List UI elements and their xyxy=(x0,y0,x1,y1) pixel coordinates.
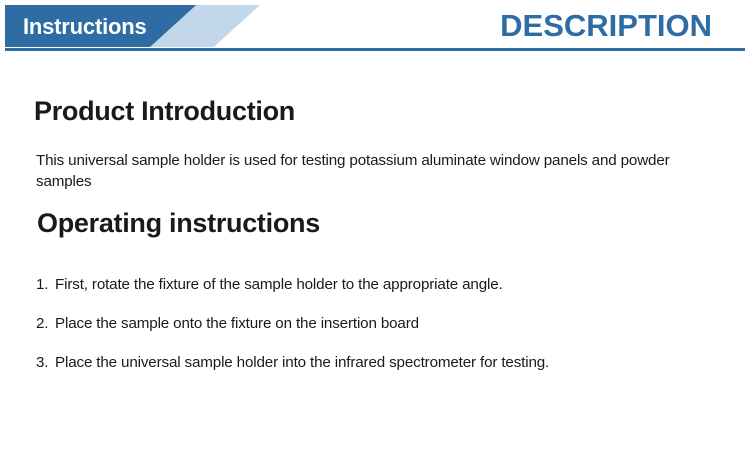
operating-steps-list: 1. First, rotate the fixture of the samp… xyxy=(36,275,726,391)
page-header: Instructions DESCRIPTION xyxy=(0,0,750,53)
step-text: Place the universal sample holder into t… xyxy=(55,353,726,373)
heading-operating-instructions: Operating instructions xyxy=(37,209,320,239)
step-number: 3. xyxy=(36,353,55,373)
heading-product-introduction: Product Introduction xyxy=(34,97,295,127)
step-text: Place the sample onto the fixture on the… xyxy=(55,314,726,334)
list-item: 3. Place the universal sample holder int… xyxy=(36,353,726,373)
step-text: First, rotate the fixture of the sample … xyxy=(55,275,726,295)
step-number: 2. xyxy=(36,314,55,334)
page-title: DESCRIPTION xyxy=(0,10,712,41)
list-item: 1. First, rotate the fixture of the samp… xyxy=(36,275,726,295)
step-number: 1. xyxy=(36,275,55,295)
list-item: 2. Place the sample onto the fixture on … xyxy=(36,314,726,334)
product-introduction-paragraph: This universal sample holder is used for… xyxy=(36,151,696,192)
header-divider xyxy=(5,48,745,51)
